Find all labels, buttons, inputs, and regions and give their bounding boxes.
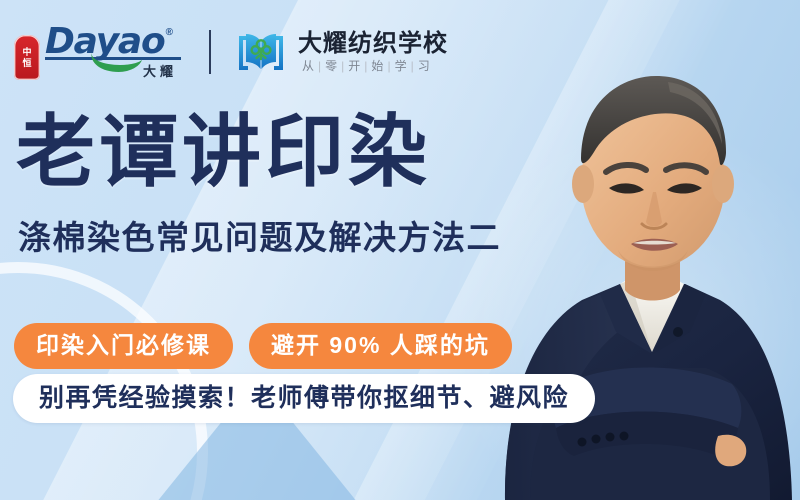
course-subtitle: 涤棉染色常见问题及解决方法二 [18,218,501,258]
dayao-brand-logo[interactable]: 中 恒 Dayao ® 大耀 [14,24,181,80]
header-logos: 中 恒 Dayao ® 大耀 [14,24,448,80]
school-slogan: 从 | 零 | 开 | 始 | 学 | 习 [298,60,448,73]
school-text-block: 大耀纺织学校 从 | 零 | 开 | 始 | 学 | 习 [298,31,448,73]
tag-pill-required-course[interactable]: 印染入门必修课 [14,323,233,369]
slogan-char-4: 始 [367,60,387,73]
slogan-char-3: 开 [344,60,364,73]
course-promo-banner: 中 恒 Dayao ® 大耀 [0,0,800,500]
logo-divider [209,30,211,74]
zhongheng-seal-icon: 中 恒 [14,35,40,80]
slogan-char-6: 习 [414,60,434,73]
tag-list: 印染入门必修课 避开 90% 人踩的坑 [14,323,512,369]
callout-banner[interactable]: 别再凭经验摸索！老师傅带你抠细节、避风险 [13,374,595,423]
seal-char-bottom: 恒 [22,58,31,68]
slogan-char-2: 零 [321,60,341,73]
tag-pill-avoid-pitfalls[interactable]: 避开 90% 人踩的坑 [249,323,512,369]
open-book-icon [235,29,287,75]
course-title: 老谭讲印染 [16,108,431,196]
dayao-wordmark-block: Dayao ® 大耀 [45,24,181,80]
dayao-wordmark: Dayao ® [45,24,181,60]
registered-mark-icon: ® [166,27,173,38]
slogan-char-1: 从 [298,60,318,73]
seal-char-top: 中 [22,47,31,57]
school-name: 大耀纺织学校 [298,31,448,56]
instructor-portrait [470,32,800,500]
school-logo[interactable]: 大耀纺织学校 从 | 零 | 开 | 始 | 学 | 习 [235,29,448,75]
slogan-char-5: 学 [391,60,411,73]
